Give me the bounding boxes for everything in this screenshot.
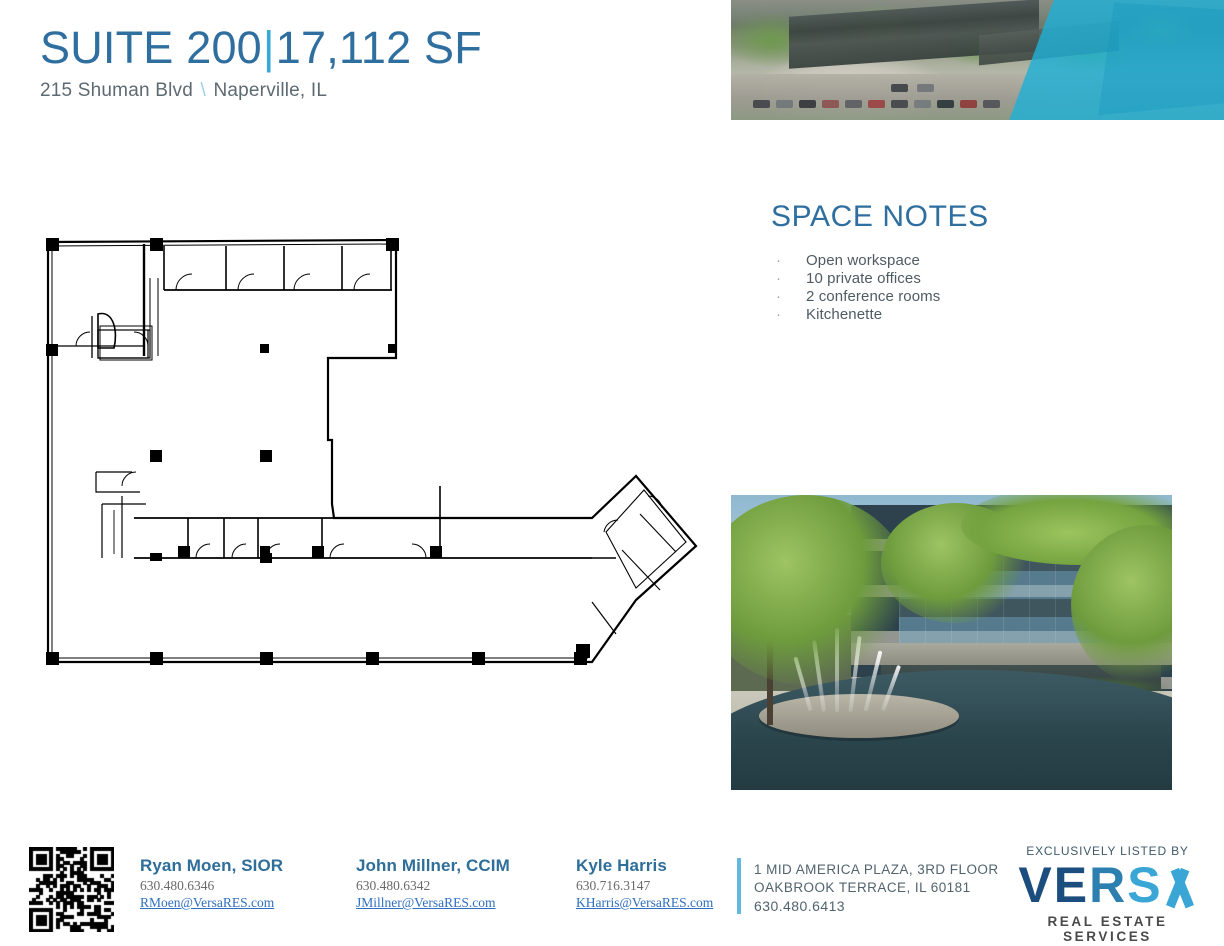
address-line-2: OAKBROOK TERRACE, IL 60181 bbox=[754, 879, 999, 897]
floor-plan bbox=[36, 228, 716, 688]
space-notes-list: · Open workspace · 10 private offices · … bbox=[771, 252, 1171, 324]
space-notes-title: SPACE NOTES bbox=[771, 200, 1171, 234]
contact-name: Kyle Harris bbox=[576, 856, 713, 876]
space-notes-section: SPACE NOTES · Open workspace · 10 privat… bbox=[771, 200, 1171, 324]
bullet-icon: · bbox=[771, 288, 806, 306]
list-item: · Kitchenette bbox=[771, 306, 1171, 324]
contact-email-link[interactable]: JMillner@VersaRES.com bbox=[356, 895, 510, 911]
list-item: · Open workspace bbox=[771, 252, 1171, 270]
address-line-1: 1 MID AMERICA PLAZA, 3RD FLOOR bbox=[754, 861, 999, 879]
logo-letter-r: R bbox=[1089, 857, 1127, 913]
list-item-label: Open workspace bbox=[806, 252, 920, 270]
list-item-label: 2 conference rooms bbox=[806, 288, 940, 306]
office-phone: 630.480.6413 bbox=[754, 897, 999, 916]
title-separator: | bbox=[262, 22, 276, 73]
contact-name: Ryan Moen, SIOR bbox=[140, 856, 283, 876]
floor-plan-drawing bbox=[36, 228, 716, 688]
size-label: 17,112 SF bbox=[276, 22, 482, 73]
contact-card: Ryan Moen, SIOR 630.480.6346 RMoen@Versa… bbox=[140, 856, 283, 911]
logo-wordmark: VERS bbox=[1010, 860, 1205, 910]
contact-email-link[interactable]: RMoen@VersaRES.com bbox=[140, 895, 283, 911]
bullet-icon: · bbox=[771, 252, 806, 270]
address-divider bbox=[737, 858, 741, 914]
list-item: · 10 private offices bbox=[771, 270, 1171, 288]
logo-letter-a-chevron-icon bbox=[1163, 868, 1197, 905]
suite-label: SUITE 200 bbox=[40, 22, 262, 73]
versa-logo: EXCLUSIVELY LISTED BY VERS REAL ESTATE S… bbox=[1010, 844, 1205, 944]
contact-phone: 630.480.6342 bbox=[356, 878, 510, 894]
page-title: SUITE 200|17,112 SF bbox=[40, 24, 680, 71]
list-item-label: 10 private offices bbox=[806, 270, 921, 288]
bullet-icon: · bbox=[771, 306, 806, 324]
address-city: Naperville, IL bbox=[213, 80, 327, 101]
building-exterior-photo bbox=[731, 495, 1172, 790]
photo-fountain-basin bbox=[759, 694, 959, 738]
page-subtitle: 215 Shuman Blvd \ Naperville, IL bbox=[40, 80, 680, 102]
contact-phone: 630.480.6346 bbox=[140, 878, 283, 894]
logo-letter-s: S bbox=[1127, 857, 1162, 913]
logo-letter-e: E bbox=[1054, 857, 1089, 913]
footer: Ryan Moen, SIOR 630.480.6346 RMoen@Versa… bbox=[0, 836, 1224, 946]
list-item: · 2 conference rooms bbox=[771, 288, 1171, 306]
address-street: 215 Shuman Blvd bbox=[40, 80, 193, 101]
contact-name: John Millner, CCIM bbox=[356, 856, 510, 876]
contact-card: John Millner, CCIM 630.480.6342 JMillner… bbox=[356, 856, 510, 911]
address-separator: \ bbox=[198, 80, 207, 101]
qr-code[interactable] bbox=[29, 847, 114, 932]
logo-subtitle: REAL ESTATE SERVICES bbox=[1010, 914, 1205, 944]
logo-letter-v: V bbox=[1018, 857, 1053, 913]
contact-email-link[interactable]: KHarris@VersaRES.com bbox=[576, 895, 713, 911]
office-address: 1 MID AMERICA PLAZA, 3RD FLOOR OAKBROOK … bbox=[754, 861, 999, 916]
list-item-label: Kitchenette bbox=[806, 306, 882, 324]
bullet-icon: · bbox=[771, 270, 806, 288]
contact-phone: 630.716.3147 bbox=[576, 878, 713, 894]
page-header: SUITE 200|17,112 SF 215 Shuman Blvd \ Na… bbox=[40, 24, 680, 102]
aerial-photo-banner bbox=[731, 0, 1224, 120]
logo-tagline: EXCLUSIVELY LISTED BY bbox=[1010, 844, 1205, 858]
contact-card: Kyle Harris 630.716.3147 KHarris@VersaRE… bbox=[576, 856, 713, 911]
